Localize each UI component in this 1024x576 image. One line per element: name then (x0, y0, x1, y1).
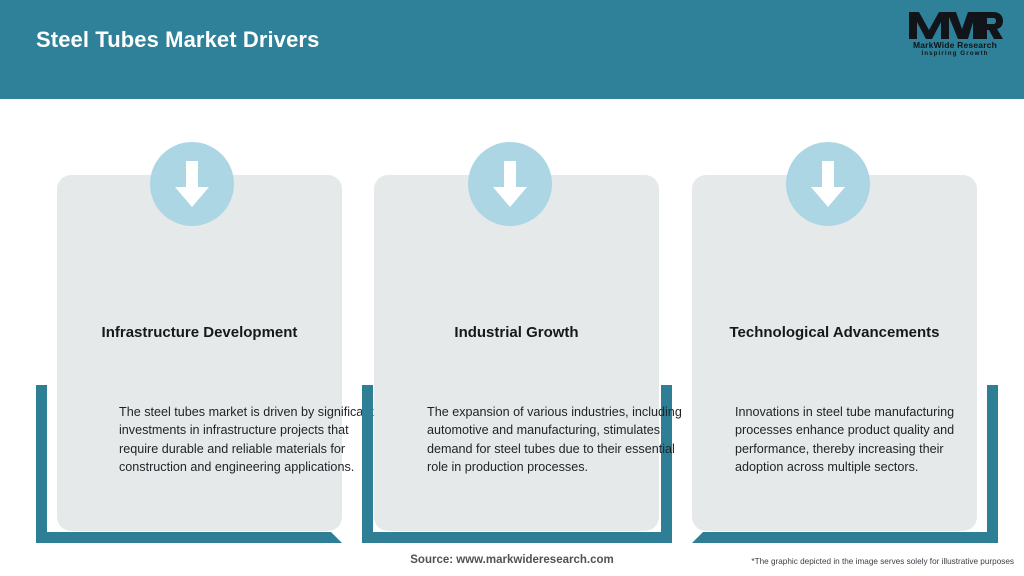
card-title: Industrial Growth (374, 324, 659, 341)
logo-tagline: Inspiring Growth (900, 51, 1010, 57)
card-body-text: The steel tubes market is driven by sign… (119, 403, 377, 476)
card-title: Technological Advancements (692, 324, 977, 341)
drivers-card-row: Infrastructure Development The steel tub… (0, 99, 1024, 539)
card-panel: Infrastructure Development The steel tub… (57, 175, 342, 531)
arrow-down-glyph (490, 159, 530, 209)
arrow-down-icon (468, 142, 552, 226)
driver-card-industrial-growth: Industrial Growth The expansion of vario… (352, 99, 672, 539)
driver-card-technological-advancements: Technological Advancements Innovations i… (678, 99, 998, 539)
card-body-text: Innovations in steel tube manufacturing … (735, 403, 995, 476)
arrow-down-glyph (172, 159, 212, 209)
card-title: Infrastructure Development (57, 324, 342, 341)
card-panel: Industrial Growth The expansion of vario… (374, 175, 659, 531)
card-panel: Technological Advancements Innovations i… (692, 175, 977, 531)
arrow-down-icon (150, 142, 234, 226)
card-body-text: The expansion of various industries, inc… (427, 403, 687, 476)
page-title: Steel Tubes Market Drivers (36, 27, 319, 53)
markwide-research-logo: MarkWide Research Inspiring Growth (900, 10, 1010, 62)
mwr-monogram-icon (907, 10, 1003, 40)
disclaimer-note: *The graphic depicted in the image serve… (751, 557, 1014, 566)
arrow-down-icon (786, 142, 870, 226)
driver-card-infrastructure-development: Infrastructure Development The steel tub… (26, 99, 346, 539)
logo-company-name: MarkWide Research (900, 41, 1010, 50)
arrow-down-glyph (808, 159, 848, 209)
